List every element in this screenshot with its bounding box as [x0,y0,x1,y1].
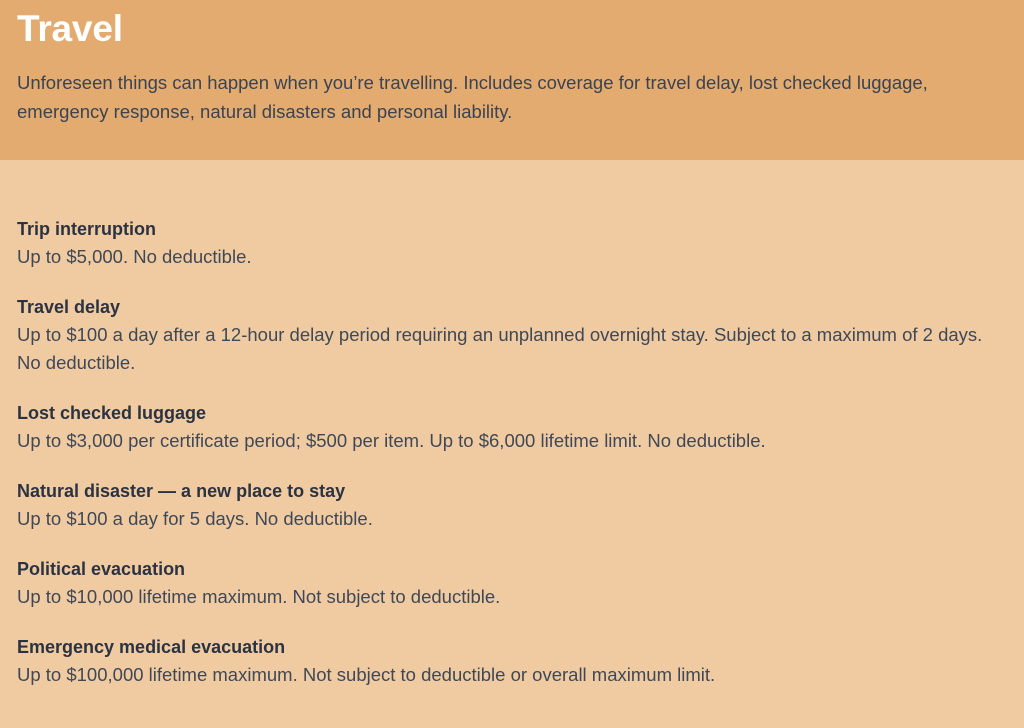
benefit-item: Political evacuation Up to $10,000 lifet… [17,556,1007,611]
benefit-detail: Up to $100,000 lifetime maximum. Not sub… [17,661,1007,689]
benefit-detail: Up to $10,000 lifetime maximum. Not subj… [17,583,1007,611]
benefits-list: Trip interruption Up to $5,000. No deduc… [0,160,1024,689]
benefit-item: Lost checked luggage Up to $3,000 per ce… [17,400,1007,455]
benefit-detail: Up to $5,000. No deductible. [17,243,1007,271]
benefit-title: Emergency medical evacuation [17,634,1007,661]
benefit-title: Travel delay [17,294,1007,321]
benefit-title: Natural disaster — a new place to stay [17,478,1007,505]
benefit-detail: Up to $100 a day for 5 days. No deductib… [17,505,1007,533]
benefit-item: Trip interruption Up to $5,000. No deduc… [17,216,1007,271]
benefit-item: Emergency medical evacuation Up to $100,… [17,634,1007,689]
benefit-detail: Up to $3,000 per certificate period; $50… [17,427,1007,455]
header-description: Unforeseen things can happen when you’re… [17,68,1002,126]
page-title: Travel [17,6,1007,52]
benefit-title: Political evacuation [17,556,1007,583]
benefit-item: Travel delay Up to $100 a day after a 12… [17,294,1007,377]
benefit-title: Lost checked luggage [17,400,1007,427]
travel-coverage-page: Travel Unforeseen things can happen when… [0,0,1024,728]
benefit-item: Natural disaster — a new place to stay U… [17,478,1007,533]
page-header: Travel Unforeseen things can happen when… [0,0,1024,160]
benefit-title: Trip interruption [17,216,1007,243]
benefit-detail: Up to $100 a day after a 12-hour delay p… [17,321,1007,377]
